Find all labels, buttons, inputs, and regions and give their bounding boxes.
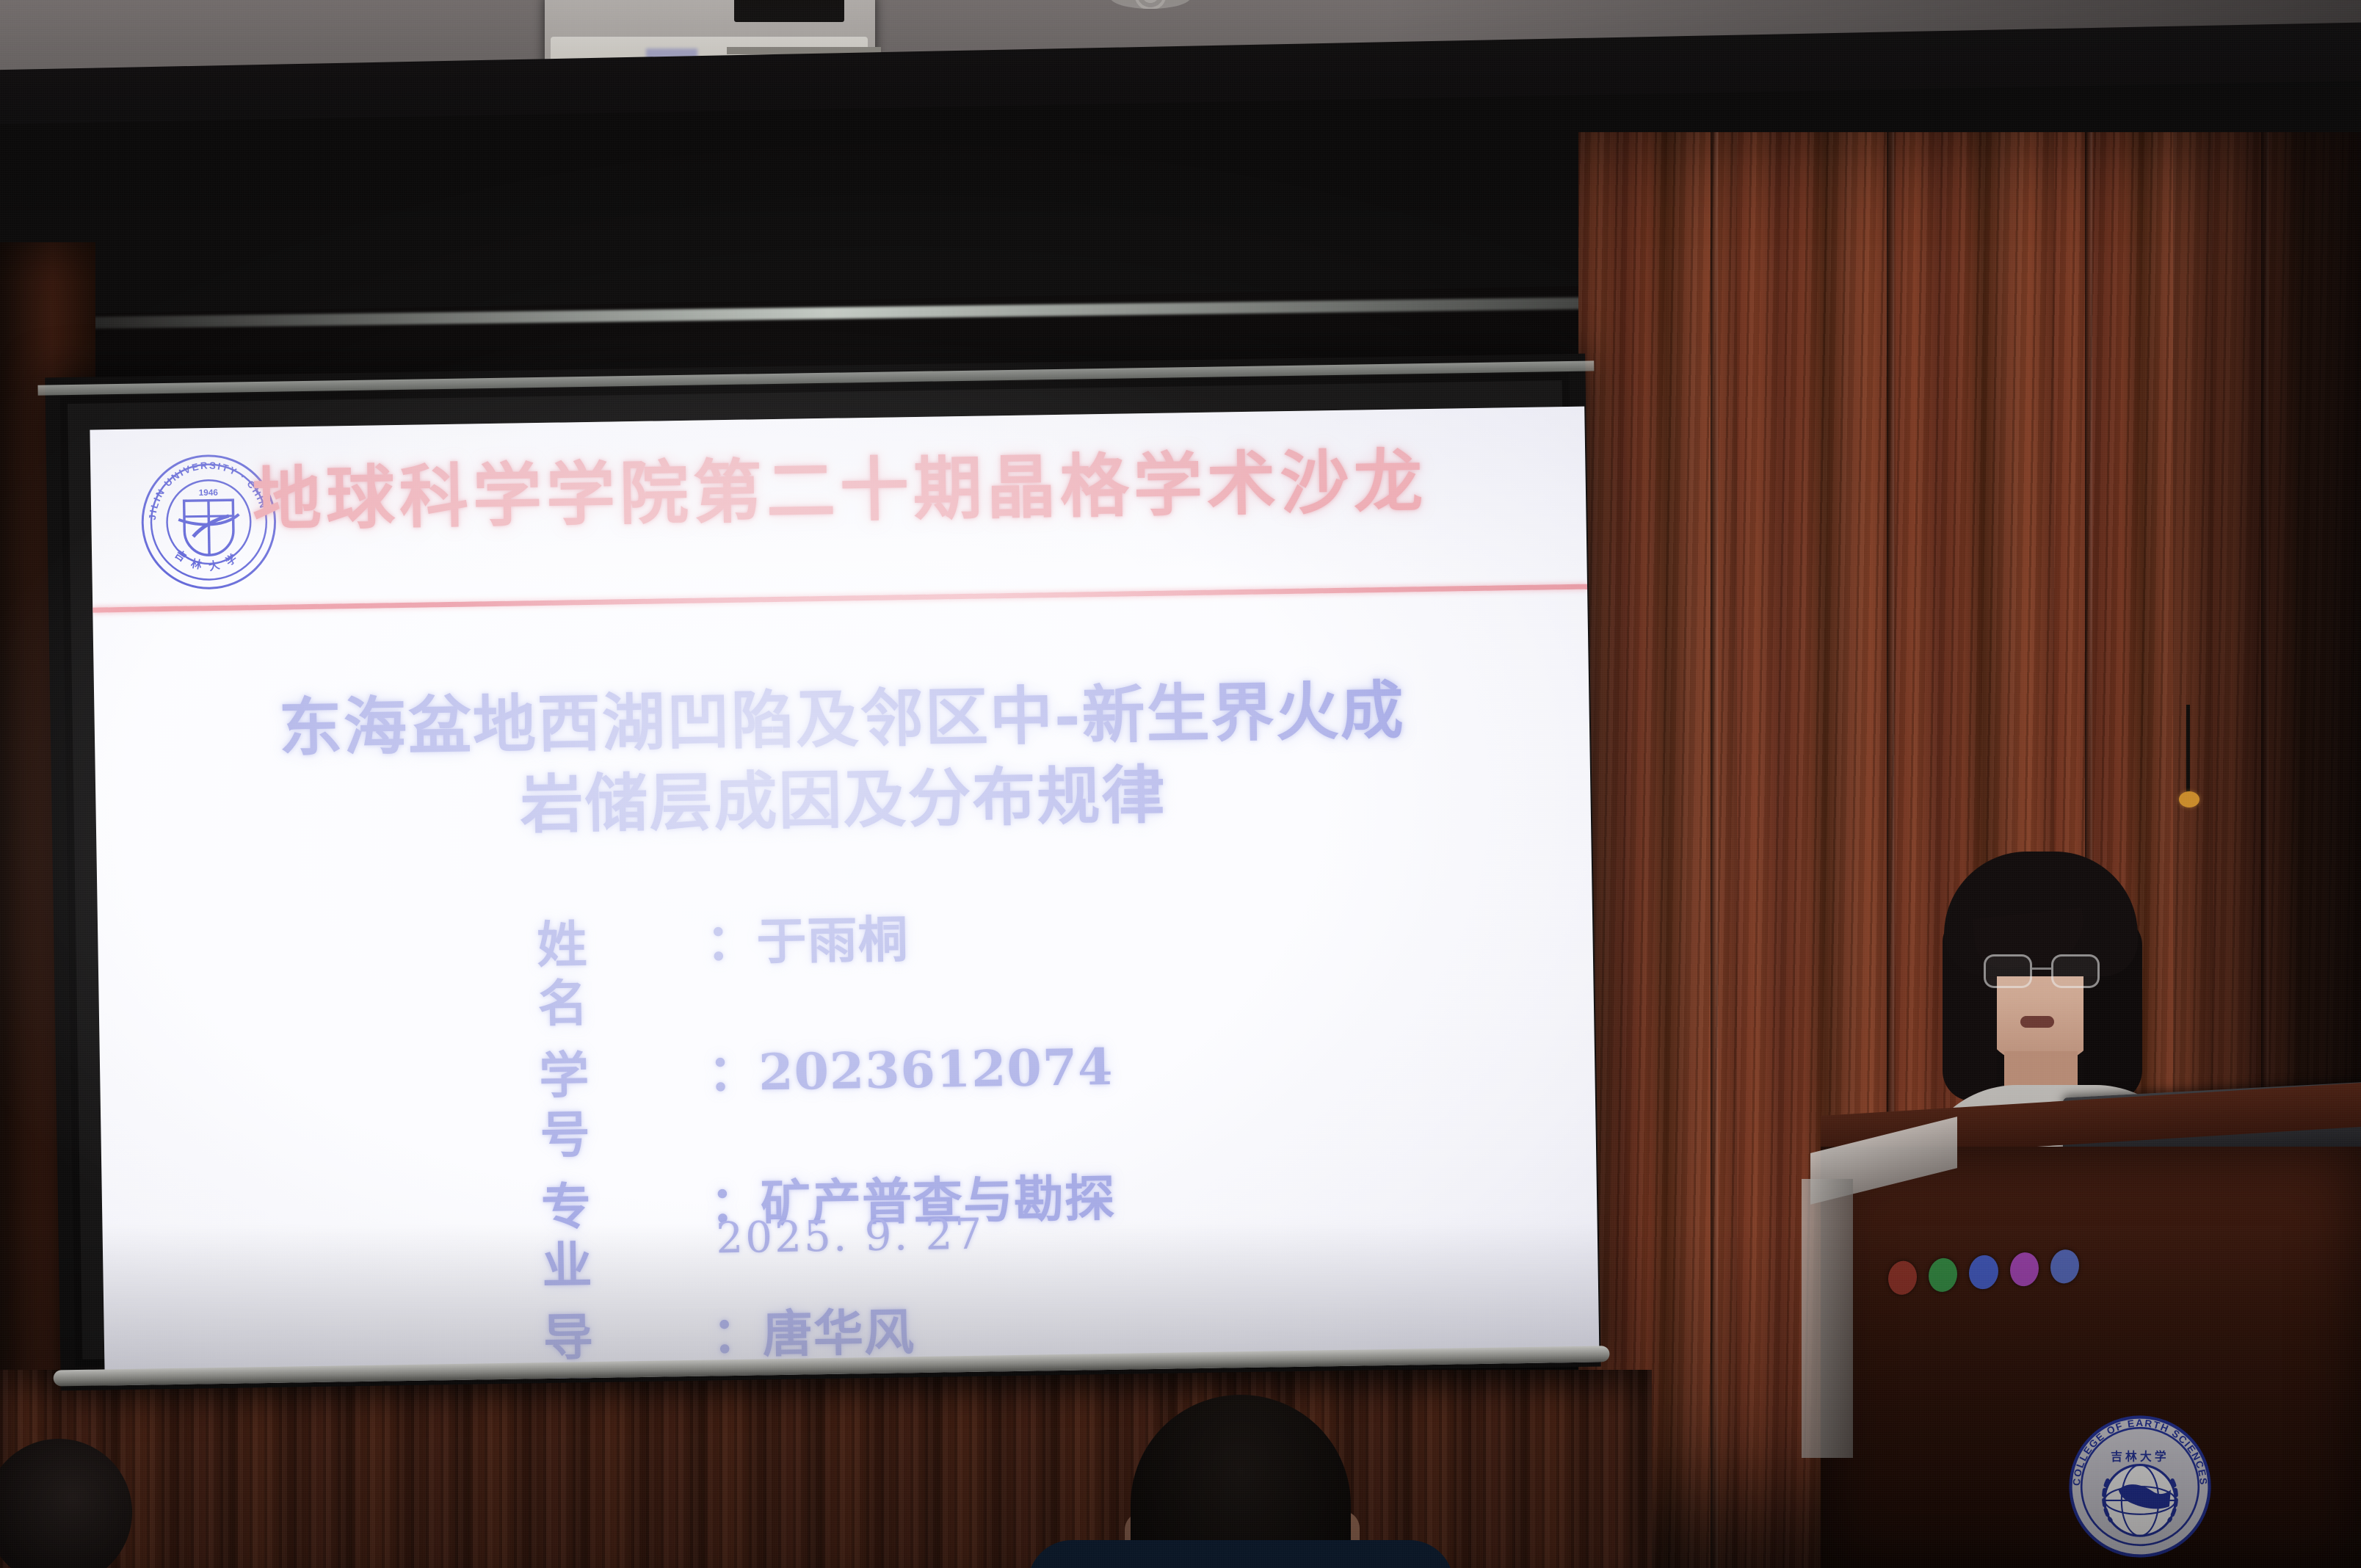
wood-seam: [1711, 132, 1718, 1568]
wood-wainscot-lower: [0, 1370, 1652, 1568]
sticker-1: [1888, 1260, 1917, 1296]
info-value-student-id: ：2023612074: [708, 1037, 1157, 1162]
info-label-student-id: 学号: [539, 1045, 709, 1165]
glasses-lens-left: [1984, 954, 2032, 988]
glasses-bridge: [2032, 968, 2051, 970]
slide-header: JILIN UNIVERSITY · CHINA 吉林大学 1946: [90, 407, 1587, 630]
svg-text:1946: 1946: [199, 488, 219, 498]
info-row-student-id: 学号 ：2023612074: [539, 1037, 1157, 1165]
cable-tip-icon: [2179, 791, 2199, 807]
sticker-5: [2050, 1249, 2079, 1285]
podium-side-highlight: [1802, 1179, 1853, 1458]
info-value-name: ：于雨桐: [706, 907, 1155, 1031]
projection-screen: JILIN UNIVERSITY · CHINA 吉林大学 1946: [45, 354, 1600, 1391]
podium: COLLEGE OF EARTH SCIENCES 吉林大学: [1821, 1116, 2361, 1568]
svg-text:吉林大学: 吉林大学: [2111, 1449, 2169, 1463]
audience-member-shoulder: [1028, 1540, 1454, 1568]
hanging-cable: [2186, 705, 2190, 800]
sticker-2: [1929, 1257, 1957, 1293]
salon-title: 地球科学学院第二十期晶格学术沙龙: [230, 446, 1449, 537]
lecture-hall-photo: JILIN UNIVERSITY · CHINA 吉林大学 1946: [0, 0, 2361, 1568]
sticker-3: [1969, 1255, 1998, 1291]
wainscot-grain: [0, 1370, 1652, 1568]
glasses-lens-right: [2051, 954, 2100, 988]
presenter-glasses-icon: [1984, 954, 2101, 990]
projector-ports: [734, 0, 844, 22]
presenter-mouth: [2020, 1016, 2054, 1028]
header-divider: [93, 584, 1587, 613]
slide-info-block: 姓名 ：于雨桐 学号 ：2023612074 专业 ：矿产普查与勘探 导师 ：唐…: [98, 900, 1600, 1386]
info-row-name: 姓名 ：于雨桐: [537, 907, 1155, 1034]
college-of-earth-sciences-emblem-icon: COLLEGE OF EARTH SCIENCES 吉林大学: [2063, 1409, 2217, 1564]
slide-main-title: 东海盆地西湖凹陷及邻区中-新生界火成 岩储层成因及分布规律: [94, 668, 1591, 853]
presentation-slide: JILIN UNIVERSITY · CHINA 吉林大学 1946: [90, 407, 1599, 1386]
sticker-4: [2010, 1252, 2039, 1288]
info-label-name: 姓名: [537, 914, 707, 1034]
screen-frame: JILIN UNIVERSITY · CHINA 吉林大学 1946: [60, 373, 1585, 1367]
